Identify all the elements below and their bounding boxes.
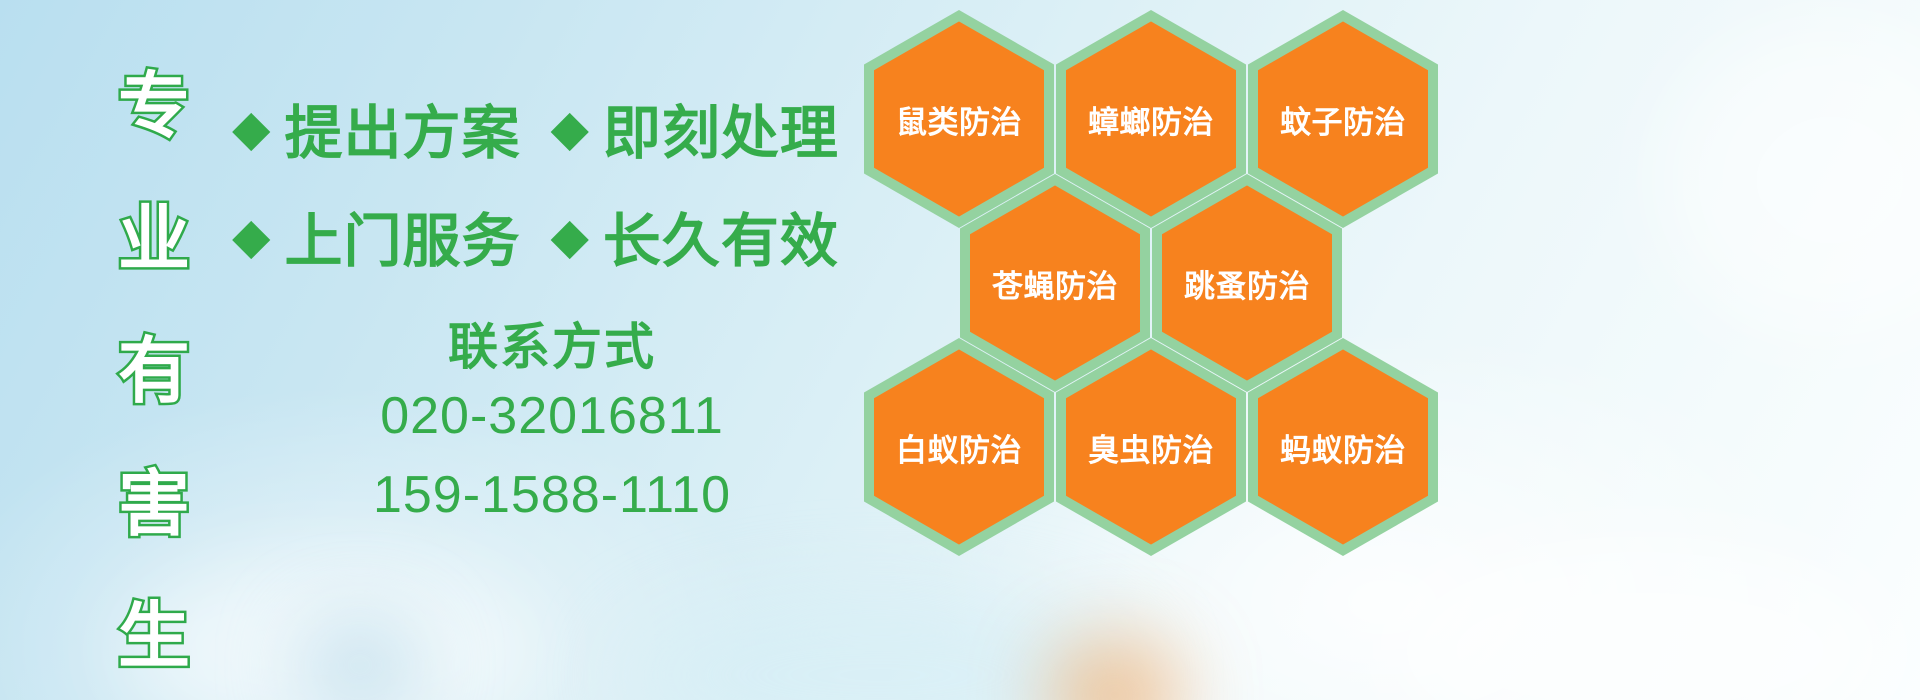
background-haze-5 <box>1050 640 1180 700</box>
background-haze-6 <box>1660 20 1920 340</box>
contact-block: 联系方式 020-32016811 159-1588-1110 <box>232 318 872 535</box>
pest-control-banner: 专 业 有 害 生 物 防 治 服 务 ◆ 提出方案 ◆ 即刻处理 ◆ 上门服务… <box>0 0 1920 700</box>
vertical-headline-char-1: 专 <box>108 74 200 140</box>
diamond-bullet-icon: ◆ <box>550 211 588 261</box>
feature-label-immediate-action: 即刻处理 <box>603 86 839 170</box>
contact-title: 联系方式 <box>232 318 872 377</box>
feature-label-long-lasting: 长久有效 <box>603 194 839 278</box>
background-haze-2 <box>620 590 1140 700</box>
background-haze-3 <box>1380 540 1900 700</box>
hex-cell-termite-control[interactable]: 白蚁防治 <box>864 338 1054 556</box>
hex-cell-ant-control[interactable]: 蚂蚁防治 <box>1248 338 1438 556</box>
vertical-headline-char-5: 生 <box>108 604 200 670</box>
hex-label-ant-control: 蚂蚁防治 <box>1248 338 1438 556</box>
hex-cell-bedbug-control[interactable]: 臭虫防治 <box>1056 338 1246 556</box>
vertical-headline-char-3: 有 <box>108 339 200 405</box>
background-haze-4 <box>300 620 420 700</box>
contact-phone-landline[interactable]: 020-32016811 <box>232 377 872 456</box>
vertical-headline: 专 业 有 害 生 物 防 治 服 务 <box>108 8 200 700</box>
feature-row-2: ◆ 上门服务 ◆ 长久有效 <box>232 182 872 290</box>
vertical-headline-char-4: 害 <box>108 472 200 538</box>
diamond-bullet-icon: ◆ <box>232 211 270 261</box>
feature-label-onsite-service: 上门服务 <box>284 194 520 278</box>
diamond-bullet-icon: ◆ <box>232 103 270 153</box>
vertical-headline-char-2: 业 <box>108 207 200 273</box>
service-honeycomb: 鼠类防治 蟑螂防治 蚊子防治 苍蝇防治 跳蚤防治 白蚁防治 <box>862 4 1462 544</box>
hex-label-termite-control: 白蚁防治 <box>864 338 1054 556</box>
contact-phone-mobile[interactable]: 159-1588-1110 <box>232 456 872 535</box>
hex-label-bedbug-control: 臭虫防治 <box>1056 338 1246 556</box>
feature-list: ◆ 提出方案 ◆ 即刻处理 ◆ 上门服务 ◆ 长久有效 <box>232 74 872 290</box>
diamond-bullet-icon: ◆ <box>550 103 588 153</box>
feature-label-propose-plan: 提出方案 <box>284 86 520 170</box>
feature-row-1: ◆ 提出方案 ◆ 即刻处理 <box>232 74 872 182</box>
